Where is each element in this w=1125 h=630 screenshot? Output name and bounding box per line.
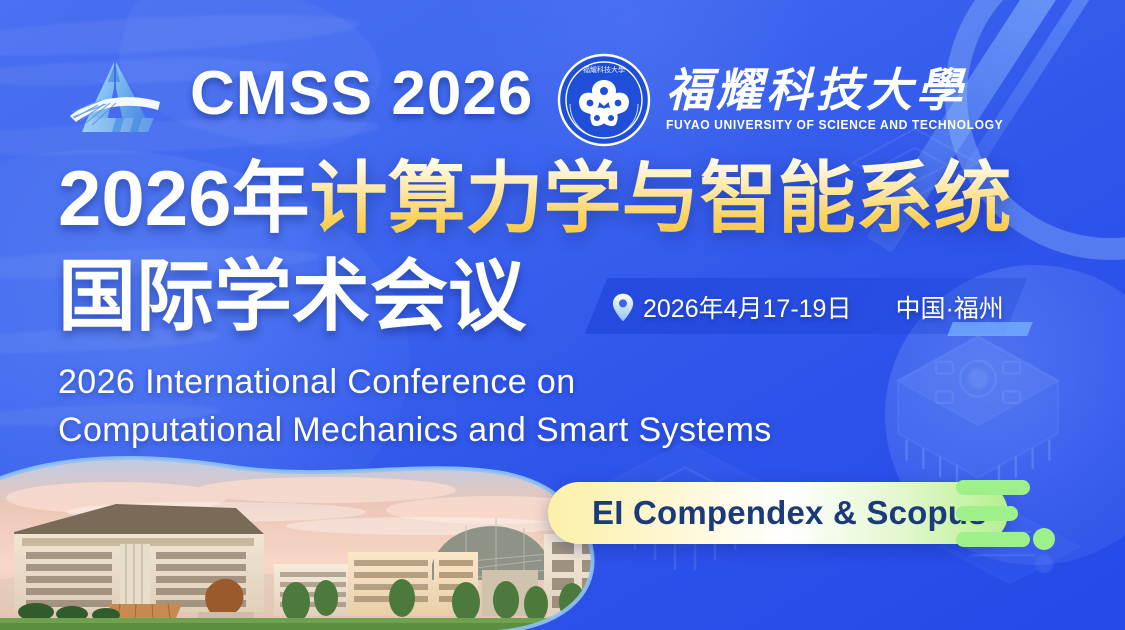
fuyao-university-seal-icon: 福耀科技大學 [556,52,652,148]
university-name-en: FUYAO UNIVERSITY OF SCIENCE AND TECHNOLO… [666,118,1003,132]
conference-banner: CMSS 2026 [0,0,1125,630]
conference-title-cn-line1: 2026年计算力学与智能系统 [58,160,1012,236]
indexing-badge-label: EI Compendex & Scopus [592,494,987,532]
title-year: 2026年 [58,154,310,242]
conference-title-en-line1: 2026 International Conference on [58,358,772,406]
brand-header: CMSS 2026 [62,48,533,140]
campus-photo [0,452,616,630]
conference-title-en: 2026 International Conference on Computa… [58,358,772,455]
conference-date: 2026年4月17-19日 [643,289,851,325]
svg-text:福耀科技大學: 福耀科技大學 [583,65,625,74]
conference-title-cn-line2: 国际学术会议 [58,258,526,334]
indexing-badge: EI Compendex & Scopus [548,482,1008,544]
green-e-bars-icon [956,476,1076,552]
location-pin-icon [612,293,634,322]
date-location-line: 2026年4月17-19日 中国·福州 [612,289,1004,325]
university-name-cn: 福耀科技大學 [666,68,1014,114]
indexing-badge-wrap: EI Compendex & Scopus [548,482,1008,544]
title-topic: 计算力学与智能系统 [310,154,1012,242]
conference-location: 中国·福州 [895,289,1003,325]
cmss-triangle-bridge-logo-icon [62,48,172,140]
chip-illustration [873,322,1083,501]
conference-title-en-line2: Computational Mechanics and Smart System… [58,406,772,454]
university-block: 福耀科技大學 福耀科技大學 FUYAO UNIVERSITY OF SCIENC… [556,52,1014,148]
cmss-acronym: CMSS 2026 [190,63,533,125]
